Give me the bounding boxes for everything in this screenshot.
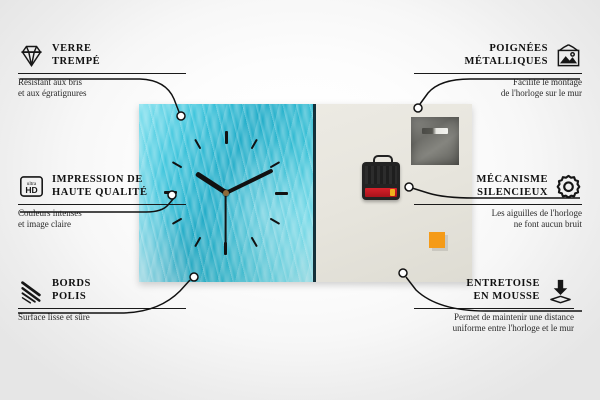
connector-line-6 (406, 277, 582, 311)
connector-dot-2 (168, 191, 176, 199)
connector-dot-6 (399, 269, 407, 277)
connector-line-4 (420, 79, 580, 104)
connector-dot-4 (414, 104, 422, 112)
connector-line-2 (20, 198, 174, 212)
connector-dot-5 (405, 183, 413, 191)
connector-lines (0, 0, 600, 400)
connector-dot-1 (177, 112, 185, 120)
connector-line-3 (18, 280, 190, 313)
connector-line-5 (412, 188, 580, 198)
connector-dot-3 (190, 273, 198, 281)
infographic-canvas: VERRE TREMPÉ Résistant aux bris et aux é… (0, 0, 600, 400)
connector-line-1 (20, 79, 179, 112)
